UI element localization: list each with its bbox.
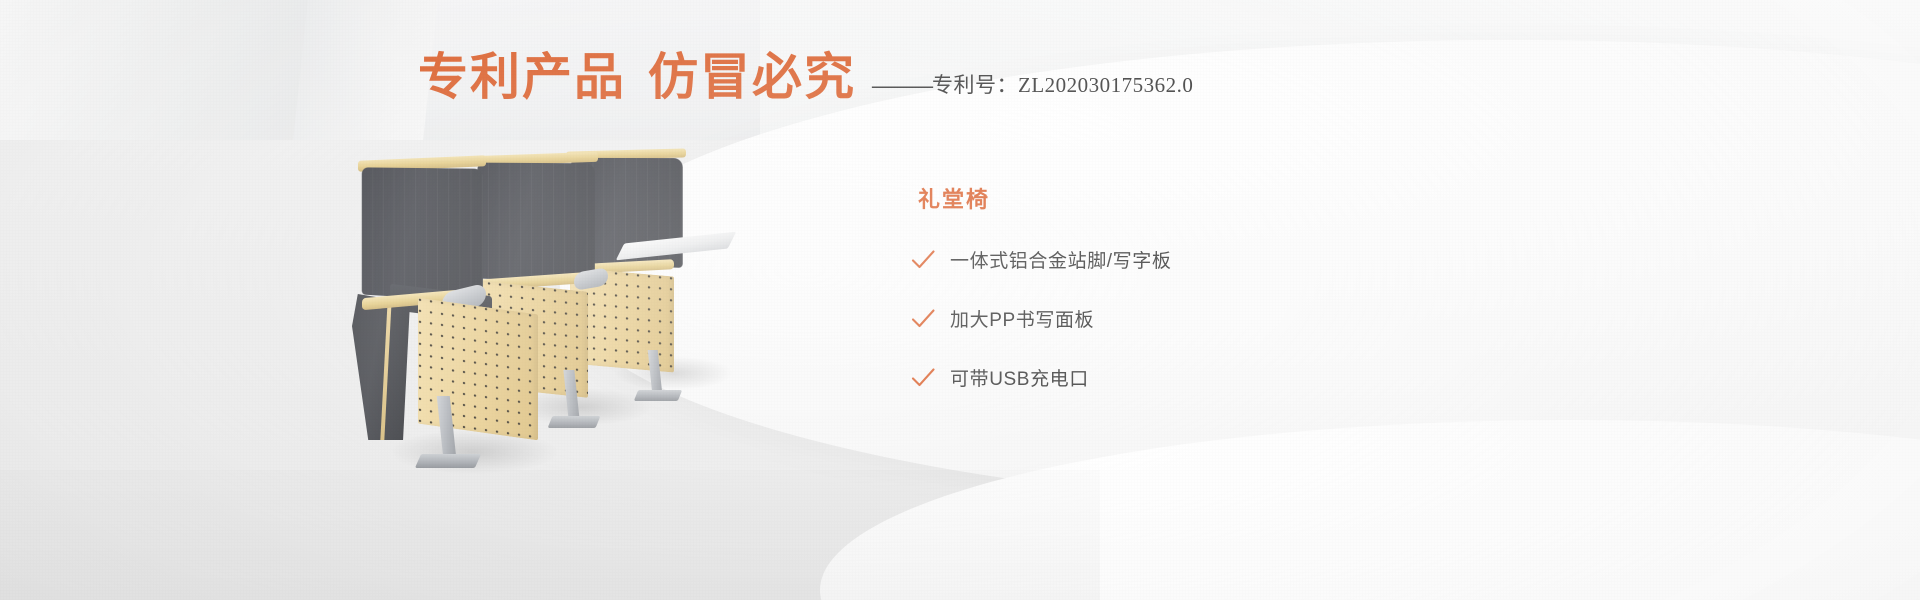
feature-item-2: 加大PP书写面板 bbox=[910, 305, 1330, 332]
check-icon bbox=[910, 306, 936, 332]
feature-item-1: 一体式铝合金站脚/写字板 bbox=[910, 246, 1330, 273]
feature-item-label: 可带USB充电口 bbox=[950, 364, 1089, 391]
check-icon bbox=[910, 365, 936, 391]
chair-back-cushion bbox=[362, 167, 483, 301]
background-wall-seam bbox=[292, 0, 438, 150]
feature-list-block: 礼堂椅 一体式铝合金站脚/写字板 加大PP书写面板 可带USB充电口 bbox=[910, 182, 1330, 423]
chair-foot bbox=[415, 454, 481, 468]
product-banner: 专利产品仿冒必究 ———专利号：ZL202030175362.0 礼堂椅 一体式… bbox=[0, 0, 1920, 600]
chair-front bbox=[352, 158, 542, 458]
headline-part-1: 专利产品 bbox=[418, 49, 626, 105]
patent-dashes: ——— bbox=[872, 73, 932, 97]
headline-row: 专利产品仿冒必究 ———专利号：ZL202030175362.0 bbox=[418, 52, 1193, 102]
feature-item-3: 可带USB充电口 bbox=[910, 364, 1330, 391]
headline-part-2: 仿冒必究 bbox=[648, 49, 856, 105]
product-name: 礼堂椅 bbox=[918, 182, 1330, 214]
patent-label: 专利号： bbox=[932, 73, 1018, 97]
background-floor-shadow bbox=[0, 470, 1100, 600]
page-title: 专利产品仿冒必究 bbox=[418, 52, 856, 102]
feature-item-label: 加大PP书写面板 bbox=[950, 305, 1094, 332]
feature-item-label: 一体式铝合金站脚/写字板 bbox=[950, 246, 1171, 273]
chair-foot bbox=[634, 390, 682, 401]
chair-perforated-panel bbox=[418, 298, 538, 441]
background-left-wall bbox=[0, 0, 330, 148]
patent-number-value: ZL202030175362.0 bbox=[1018, 73, 1193, 97]
check-icon bbox=[910, 247, 936, 273]
chair-foot bbox=[548, 416, 601, 428]
product-image-auditorium-chairs bbox=[352, 142, 772, 482]
patent-number: ———专利号：ZL202030175362.0 bbox=[872, 75, 1193, 102]
